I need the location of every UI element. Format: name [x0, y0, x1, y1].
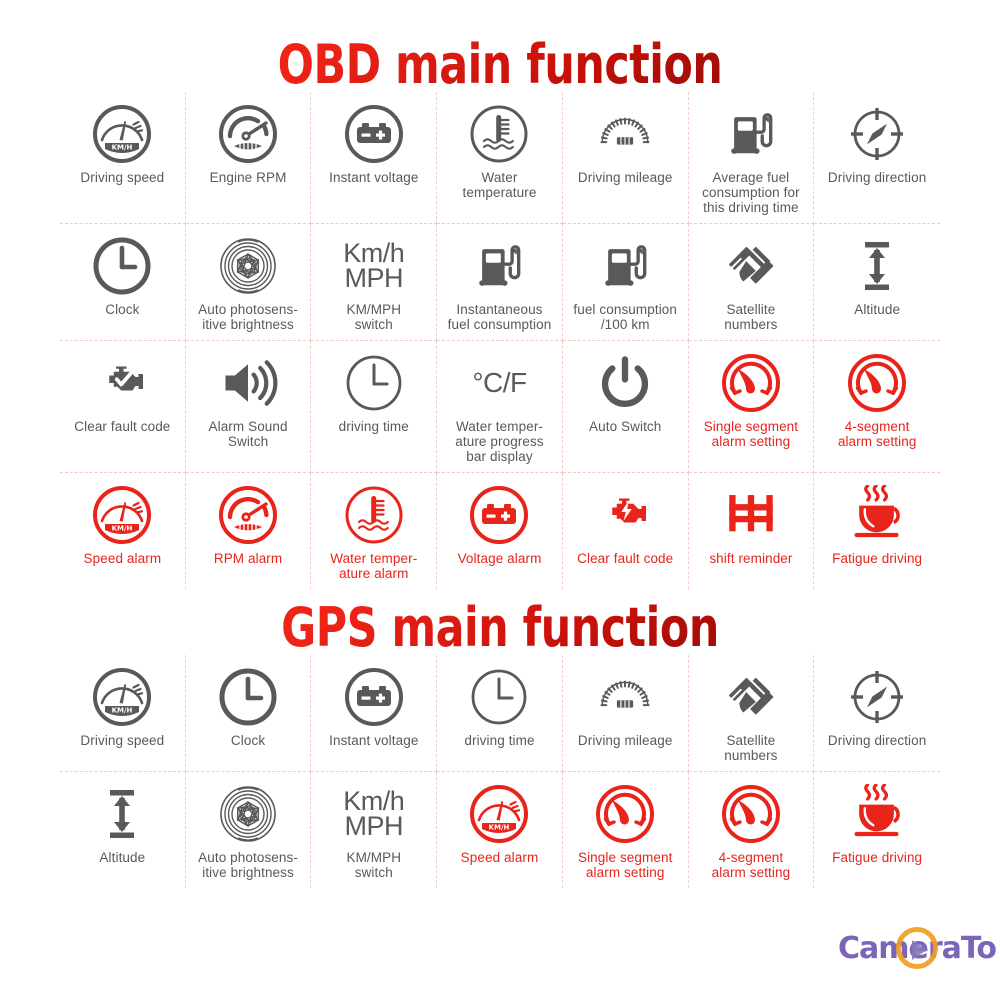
- svg-text:KM/H: KM/H: [489, 823, 510, 831]
- odometer-icon: [593, 102, 657, 166]
- gps-section-title: GPS main function: [60, 589, 940, 655]
- altitude-arrow-icon: [845, 234, 909, 298]
- battery-icon: [342, 665, 406, 729]
- feature-label: Instant voltage: [329, 170, 418, 185]
- speedometer-icon: KM/H: [467, 782, 531, 846]
- feature-label: Water temperature: [463, 170, 537, 200]
- speedometer-icon: KM/H: [90, 102, 154, 166]
- engine-check-icon: [92, 351, 152, 415]
- aperture-icon: [216, 234, 280, 298]
- obd-feature-grid: KM/HDriving speedEngine RPMInstant volta…: [60, 92, 940, 589]
- icon-text-line: °C/F: [472, 370, 526, 396]
- feature-label: RPM alarm: [214, 551, 282, 566]
- feature-label: Driving direction: [828, 170, 927, 185]
- feature-label: Driving speed: [80, 170, 164, 185]
- feature-cell[interactable]: °C/FWater temper- ature progress bar dis…: [437, 341, 563, 473]
- feature-cell[interactable]: Auto photosens- itive brightness: [186, 224, 312, 341]
- feature-cell[interactable]: Instant voltage: [311, 92, 437, 224]
- feature-label: Average fuel consumption for this drivin…: [702, 170, 800, 215]
- speedometer-icon: KM/H: [90, 483, 154, 547]
- alarm-gauge-icon: [593, 782, 657, 846]
- alarm-gauge-icon: [719, 782, 783, 846]
- celsius-fahrenheit-text-icon: °C/F: [472, 351, 526, 415]
- feature-label: 4-segment alarm setting: [838, 419, 917, 449]
- icon-text-line: MPH: [343, 814, 404, 839]
- feature-cell[interactable]: Clear fault code: [60, 341, 186, 473]
- feature-label: Auto photosens- itive brightness: [198, 850, 298, 880]
- feature-label: Speed alarm: [84, 551, 162, 566]
- feature-cell[interactable]: Driving direction: [814, 92, 940, 224]
- feature-cell[interactable]: driving time: [437, 655, 563, 772]
- satellite-icon: [720, 665, 782, 729]
- feature-label: Instantaneous fuel consumption: [448, 302, 552, 332]
- feature-label: Altitude: [99, 850, 145, 865]
- feature-label: Instant voltage: [329, 733, 418, 748]
- feature-label: Clock: [231, 733, 265, 748]
- feature-cell[interactable]: Alarm Sound Switch: [186, 341, 312, 473]
- tachometer-icon: [216, 483, 280, 547]
- feature-cell[interactable]: Auto Switch: [563, 341, 689, 473]
- feature-cell[interactable]: driving time: [311, 341, 437, 473]
- feature-label: Single segment alarm setting: [704, 419, 798, 449]
- speaker-icon: [218, 351, 278, 415]
- feature-cell[interactable]: 4-segment alarm setting: [689, 772, 815, 888]
- svg-text:KM/H: KM/H: [112, 143, 133, 151]
- feature-label: Single segment alarm setting: [578, 850, 672, 880]
- feature-cell[interactable]: Driving mileage: [563, 92, 689, 224]
- celsius-fahrenheit-text-icon: °C/F: [472, 370, 526, 396]
- feature-label: KM/MPH switch: [346, 302, 401, 332]
- feature-cell[interactable]: Auto photosens- itive brightness: [186, 772, 312, 888]
- feature-cell[interactable]: Fatigue driving: [814, 473, 940, 589]
- watermark-text: CameraTo: [838, 931, 996, 966]
- feature-cell[interactable]: Clock: [186, 655, 312, 772]
- feature-cell[interactable]: Satellite numbers: [689, 224, 815, 341]
- altitude-arrow-icon: [90, 782, 154, 846]
- feature-label: Satellite numbers: [724, 733, 777, 763]
- feature-cell[interactable]: KM/HDriving speed: [60, 92, 186, 224]
- feature-cell[interactable]: Km/hMPHKM/MPH switch: [311, 224, 437, 341]
- svg-text:KM/H: KM/H: [112, 706, 133, 714]
- feature-cell[interactable]: Altitude: [814, 224, 940, 341]
- battery-icon: [467, 483, 531, 547]
- clock-bold-icon: [216, 665, 280, 729]
- watermark: CameraTo: [838, 925, 998, 977]
- feature-cell[interactable]: Clear fault code: [563, 473, 689, 589]
- engine-bolt-icon: [595, 483, 655, 547]
- tachometer-icon: [216, 102, 280, 166]
- speedometer-icon: KM/H: [90, 665, 154, 729]
- feature-label: Speed alarm: [461, 850, 539, 865]
- feature-cell[interactable]: Clock: [60, 224, 186, 341]
- feature-label: Voltage alarm: [458, 551, 542, 566]
- feature-cell[interactable]: Satellite numbers: [689, 655, 815, 772]
- feature-label: Fatigue driving: [832, 551, 922, 566]
- icon-text-line: MPH: [343, 266, 404, 291]
- feature-cell[interactable]: Fatigue driving: [814, 772, 940, 888]
- feature-cell[interactable]: 4-segment alarm setting: [814, 341, 940, 473]
- kmh-mph-text-icon: Km/hMPH: [343, 234, 404, 298]
- feature-label: Driving mileage: [578, 170, 673, 185]
- shift-pattern-icon: [722, 483, 780, 547]
- feature-label: shift reminder: [709, 551, 792, 566]
- svg-text:KM/H: KM/H: [112, 524, 133, 532]
- feature-cell[interactable]: Driving direction: [814, 655, 940, 772]
- kmh-mph-text-icon: Km/hMPH: [343, 782, 404, 846]
- feature-cell[interactable]: KM/HSpeed alarm: [60, 473, 186, 589]
- gps-feature-grid: KM/HDriving speedClockInstant voltagedri…: [60, 655, 940, 888]
- alarm-gauge-icon: [719, 351, 783, 415]
- compass-icon: [845, 102, 909, 166]
- odometer-icon: [593, 665, 657, 729]
- watermark-play-badge-icon: [896, 927, 938, 969]
- feature-label: Auto photosens- itive brightness: [198, 302, 298, 332]
- feature-label: Driving mileage: [578, 733, 673, 748]
- feature-label: Alarm Sound Switch: [208, 419, 287, 449]
- feature-cell[interactable]: Altitude: [60, 772, 186, 888]
- compass-icon: [845, 665, 909, 729]
- feature-cell[interactable]: Voltage alarm: [437, 473, 563, 589]
- feature-cell[interactable]: Km/hMPHKM/MPH switch: [311, 772, 437, 888]
- water-temperature-icon: [342, 483, 406, 547]
- feature-label: Clear fault code: [74, 419, 170, 434]
- feature-cell[interactable]: Water temperature: [437, 92, 563, 224]
- poster-root: OBD main function KM/HDriving speedEngin…: [0, 0, 1000, 1000]
- aperture-icon: [216, 782, 280, 846]
- feature-label: KM/MPH switch: [346, 850, 401, 880]
- kmh-mph-text-icon: Km/hMPH: [343, 241, 404, 291]
- feature-label: Driving speed: [80, 733, 164, 748]
- coffee-cup-icon: [846, 782, 908, 846]
- feature-cell[interactable]: KM/HDriving speed: [60, 655, 186, 772]
- clock-thin-icon: [342, 351, 406, 415]
- feature-label: fuel consumption /100 km: [573, 302, 677, 332]
- feature-label: Clock: [105, 302, 139, 317]
- feature-label: 4-segment alarm setting: [712, 850, 791, 880]
- feature-label: driving time: [464, 733, 534, 748]
- water-temperature-icon: [467, 102, 531, 166]
- clock-thin-icon: [467, 665, 531, 729]
- feature-label: Water temper- ature alarm: [330, 551, 417, 581]
- feature-cell[interactable]: Average fuel consumption for this drivin…: [689, 92, 815, 224]
- feature-label: Satellite numbers: [724, 302, 777, 332]
- fuel-pump-icon: [595, 234, 655, 298]
- feature-cell[interactable]: Single segment alarm setting: [689, 341, 815, 473]
- feature-cell[interactable]: Engine RPM: [186, 92, 312, 224]
- battery-icon: [342, 102, 406, 166]
- satellite-icon: [720, 234, 782, 298]
- feature-label: Driving direction: [828, 733, 927, 748]
- feature-cell[interactable]: Instant voltage: [311, 655, 437, 772]
- feature-cell[interactable]: fuel consumption /100 km: [563, 224, 689, 341]
- feature-cell[interactable]: Single segment alarm setting: [563, 772, 689, 888]
- feature-cell[interactable]: shift reminder: [689, 473, 815, 589]
- feature-cell[interactable]: Instantaneous fuel consumption: [437, 224, 563, 341]
- feature-label: Engine RPM: [210, 170, 287, 185]
- obd-section-title: OBD main function: [60, 0, 940, 92]
- feature-label: Altitude: [854, 302, 900, 317]
- feature-label: Clear fault code: [577, 551, 673, 566]
- feature-cell[interactable]: Driving mileage: [563, 655, 689, 772]
- fuel-pump-icon: [721, 102, 781, 166]
- feature-cell[interactable]: RPM alarm: [186, 473, 312, 589]
- kmh-mph-text-icon: Km/hMPH: [343, 789, 404, 839]
- feature-cell[interactable]: KM/HSpeed alarm: [437, 772, 563, 888]
- feature-label: Fatigue driving: [832, 850, 922, 865]
- feature-label: Auto Switch: [589, 419, 661, 434]
- coffee-cup-icon: [846, 483, 908, 547]
- power-icon: [596, 351, 654, 415]
- fuel-pump-icon: [469, 234, 529, 298]
- feature-cell[interactable]: Water temper- ature alarm: [311, 473, 437, 589]
- feature-label: Water temper- ature progress bar display: [455, 419, 543, 464]
- clock-bold-icon: [90, 234, 154, 298]
- alarm-gauge-icon: [845, 351, 909, 415]
- feature-label: driving time: [339, 419, 409, 434]
